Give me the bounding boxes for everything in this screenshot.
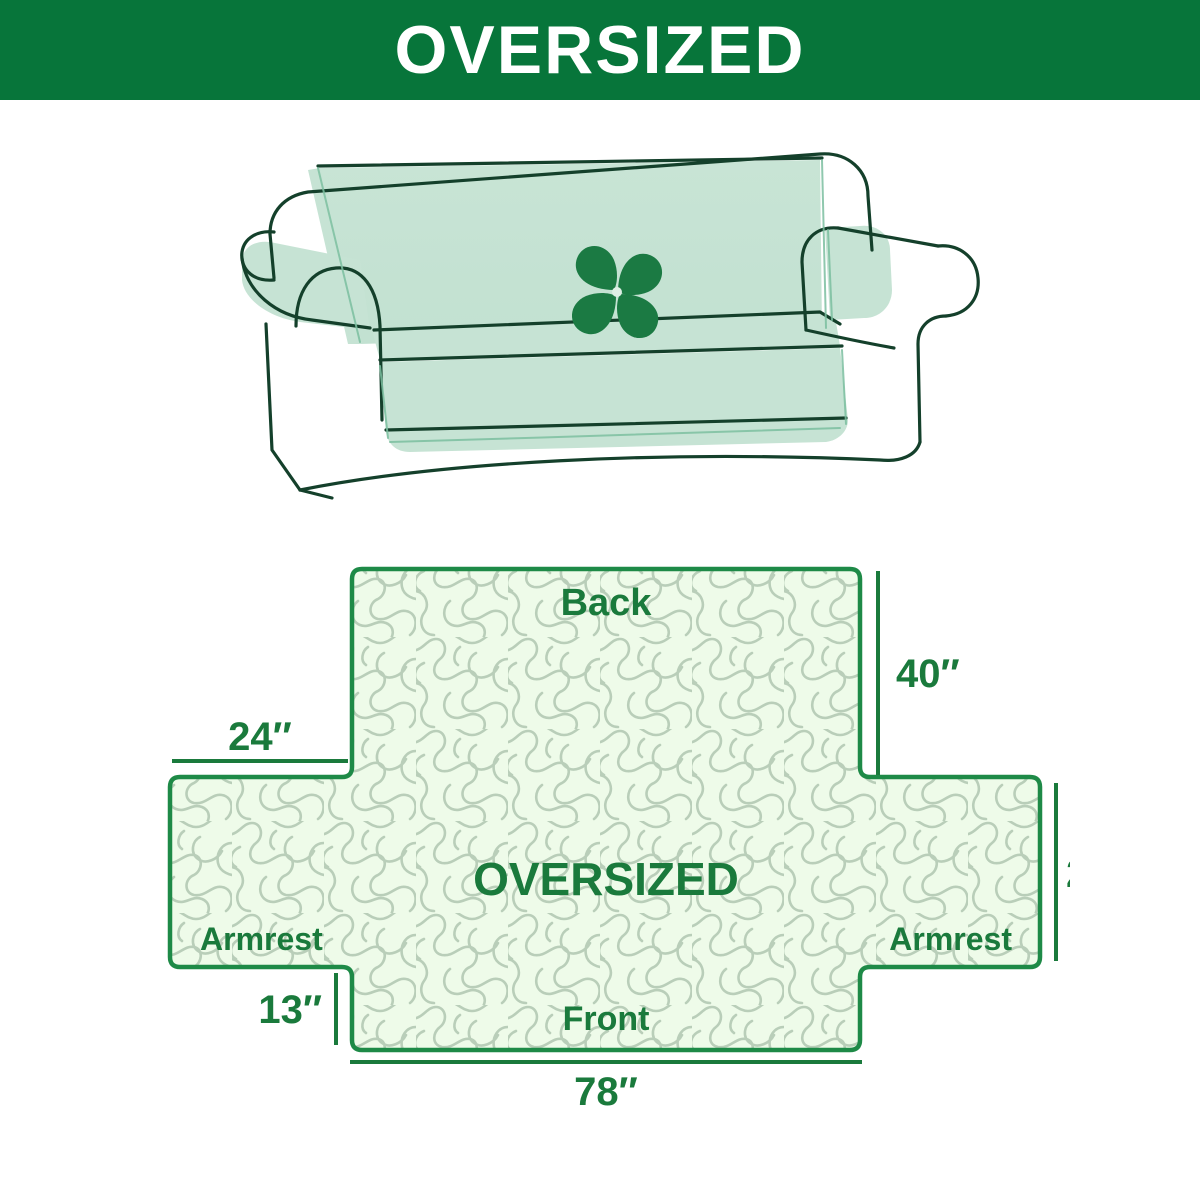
sofa-outline-armrest-right-roll (938, 246, 978, 316)
cover-shape-group (170, 569, 1040, 1050)
sofa-outline-left-body (266, 324, 300, 490)
sofa-cover-seam-back-right (822, 160, 826, 328)
sofa-cover-armrest-right (825, 226, 892, 320)
header-banner: OVERSIZED (0, 0, 1200, 100)
pinwheel-hub (612, 287, 622, 297)
label-center-oversized: OVERSIZED (473, 853, 739, 905)
sofa-cover-seat (380, 348, 848, 452)
flat-layout-svg: Back OVERSIZED Armrest Armrest Front 40″… (140, 545, 1070, 1135)
sofa-outline-right-body (918, 316, 946, 442)
dimension-label-23: 23″ (1066, 852, 1070, 896)
sofa-outline-left-body-inner (300, 490, 332, 498)
sofa-outline-bottom (300, 442, 920, 490)
label-back: Back (561, 582, 653, 624)
dimension-label-24: 24″ (228, 715, 292, 759)
cover-shape (170, 569, 1040, 1050)
label-armrest-right: Armrest (889, 921, 1012, 957)
label-front: Front (563, 1000, 650, 1038)
dimension-label-13: 13″ (258, 988, 322, 1032)
dimension-label-40: 40″ (896, 652, 960, 696)
page-title: OVERSIZED (395, 16, 806, 84)
sofa-illustration (240, 130, 980, 520)
flat-layout-diagram: Back OVERSIZED Armrest Armrest Front 40″… (140, 545, 1070, 1135)
sofa-drawing (240, 130, 980, 520)
label-armrest-left: Armrest (200, 921, 323, 957)
dimension-label-78: 78″ (574, 1070, 638, 1114)
